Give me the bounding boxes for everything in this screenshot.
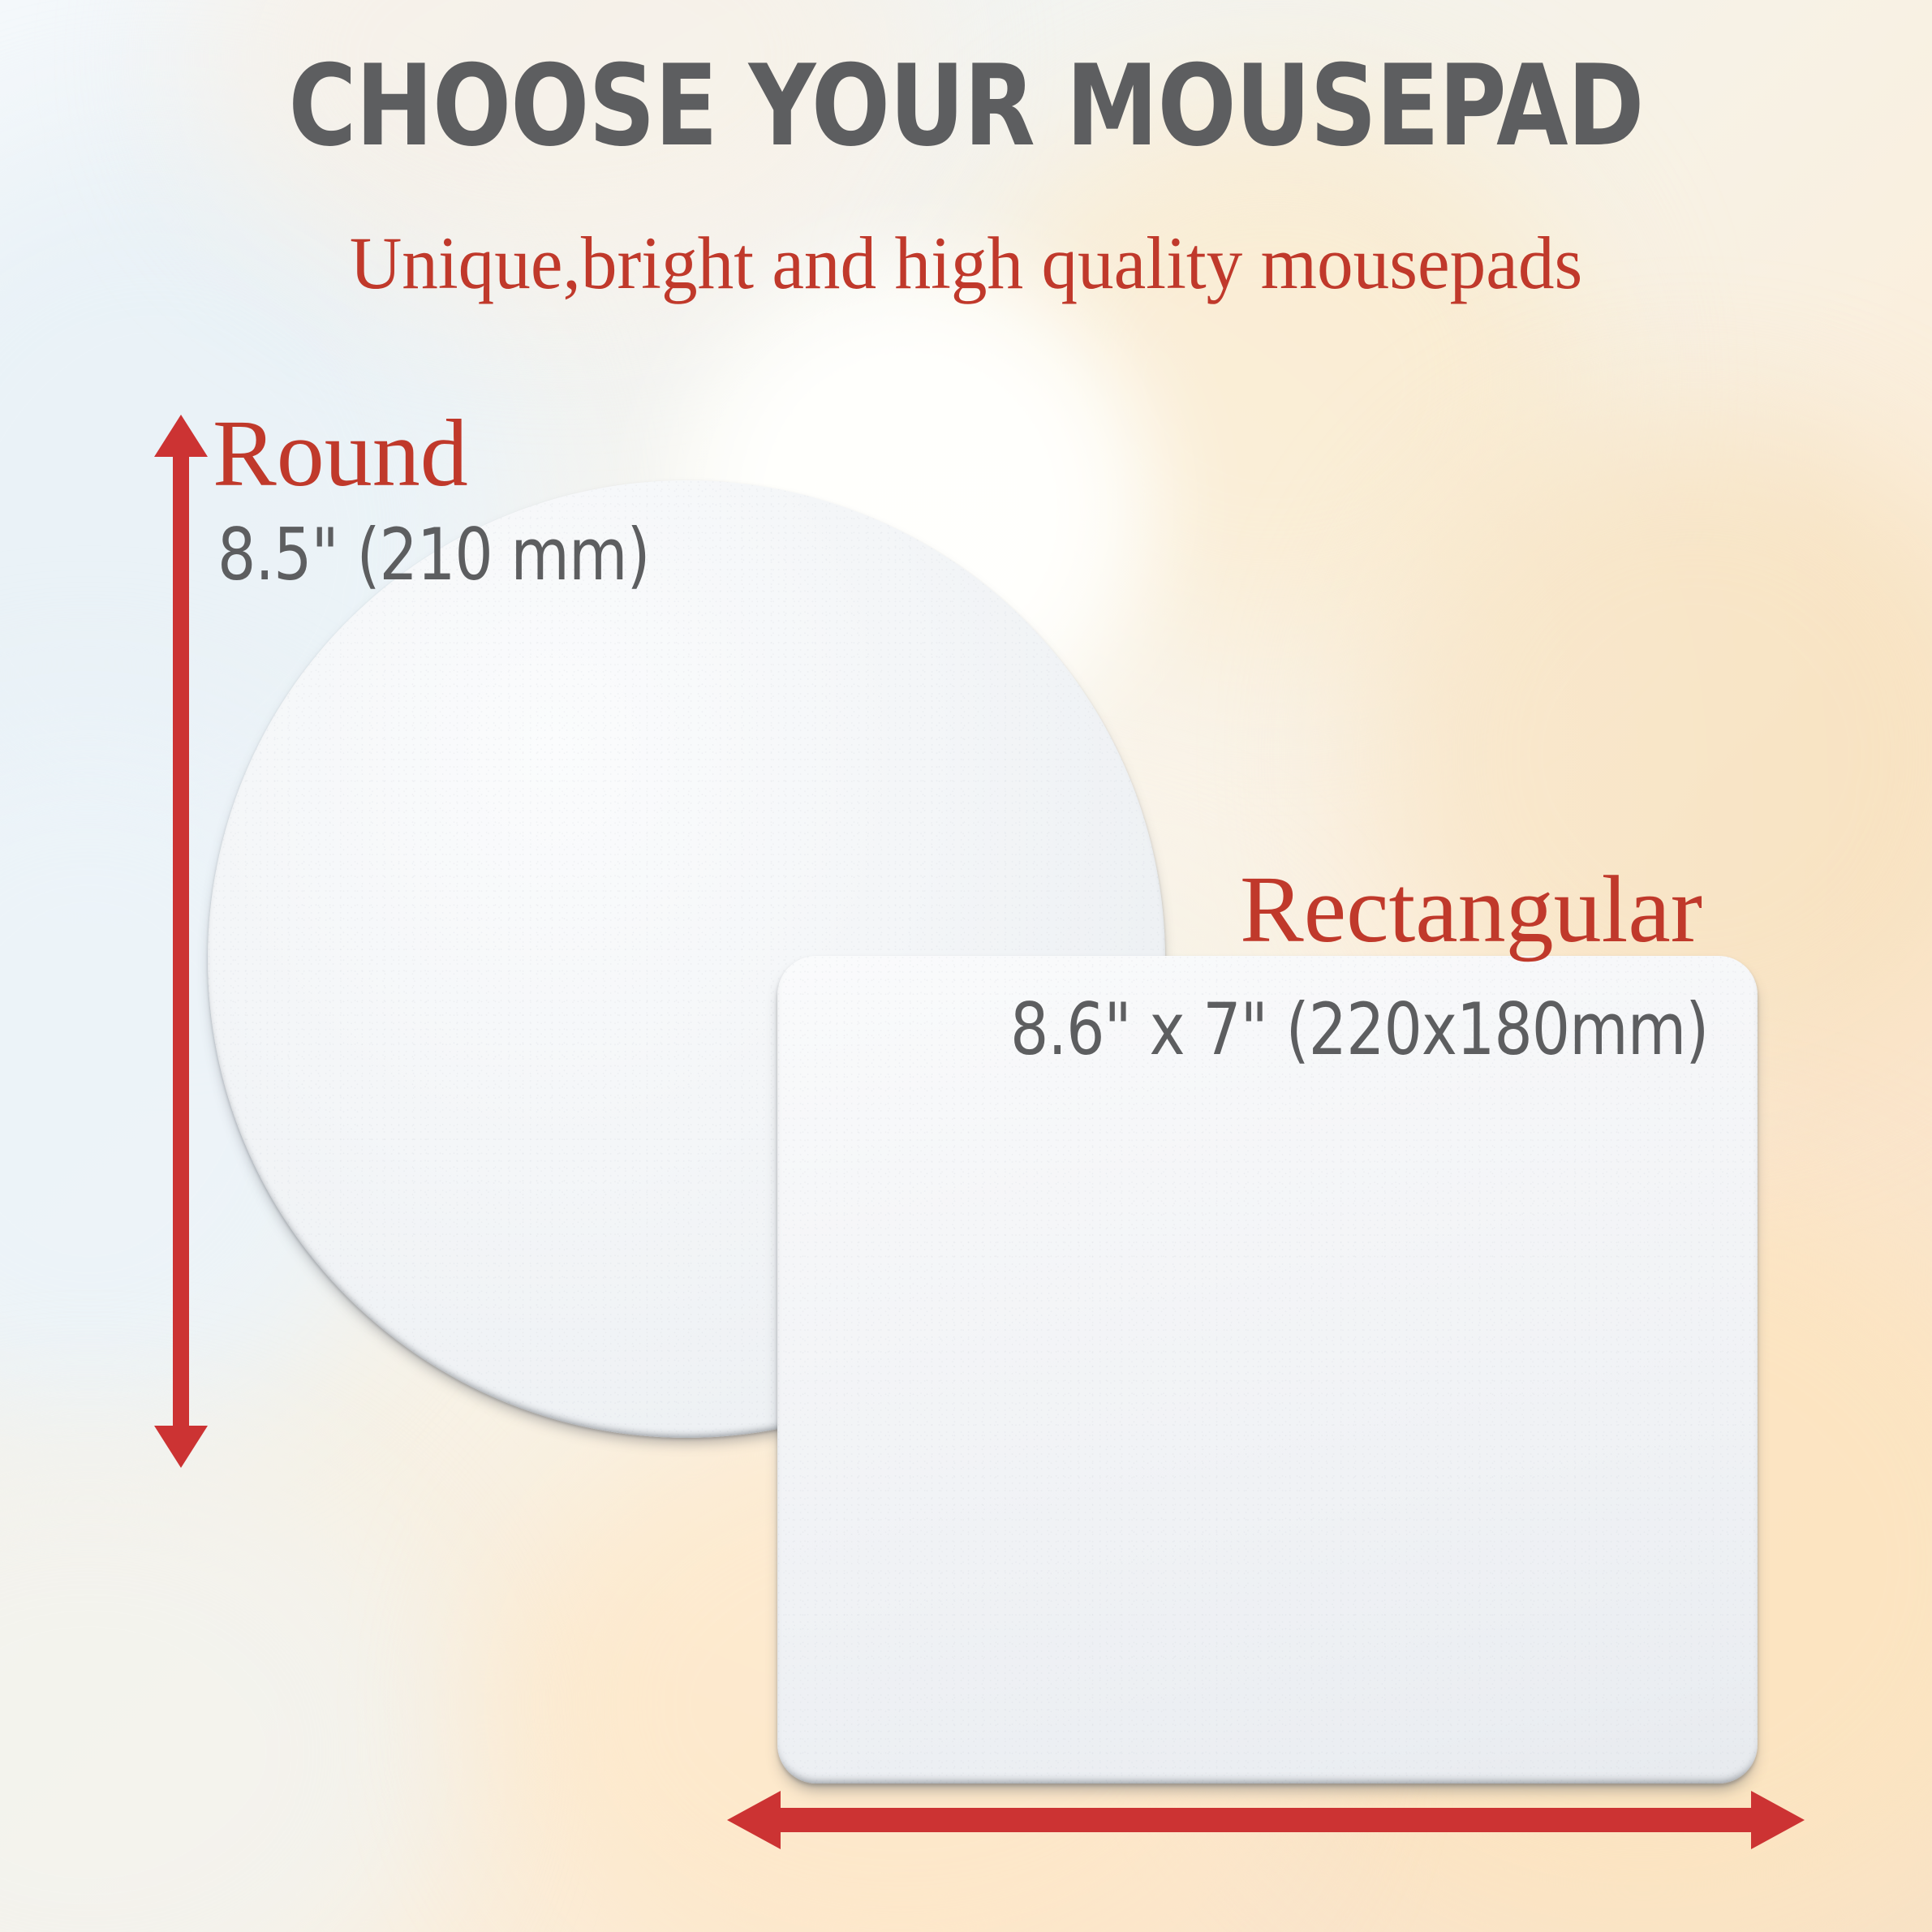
round-label: Round [213, 406, 468, 501]
horizontal-double-arrow-icon [722, 1781, 1809, 1859]
vertical-double-arrow-icon [153, 410, 209, 1473]
infographic-canvas: CHOOSE YOUR MOUSEPAD Unique,bright and h… [0, 0, 1932, 1932]
rectangular-label: Rectangular [1240, 862, 1702, 957]
page-title: CHOOSE YOUR MOUSEPAD [77, 50, 1855, 162]
round-dimensions: 8.5" (210 mm) [217, 519, 650, 591]
page-subtitle: Unique,bright and high quality mousepads [29, 226, 1904, 300]
rectangular-mousepad [777, 956, 1758, 1784]
rectangular-dimensions: 8.6" x 7" (220x180mm) [1010, 994, 1708, 1065]
rectangular-mousepad-texture [777, 956, 1758, 1784]
